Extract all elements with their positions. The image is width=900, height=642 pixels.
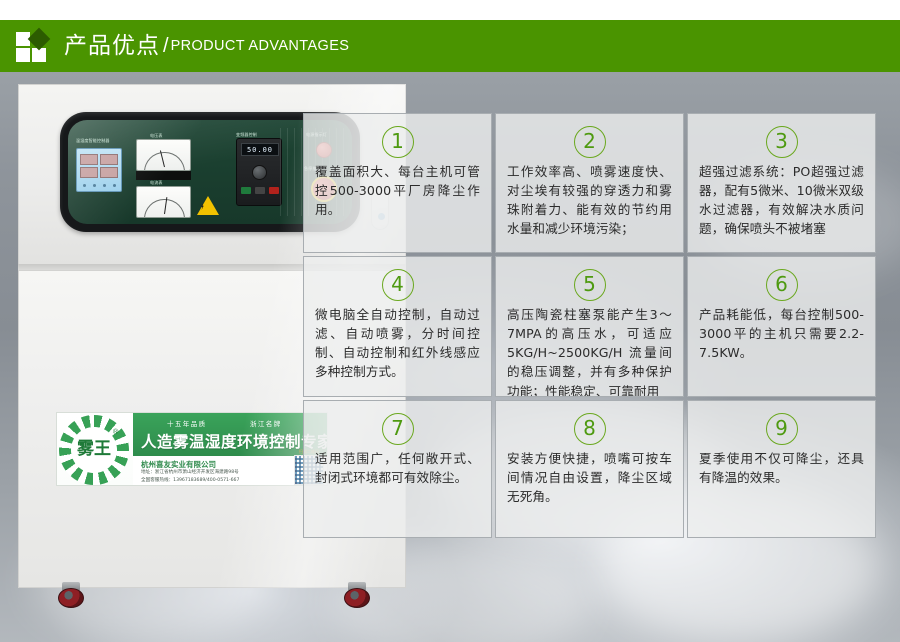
logo-square-bottom-left: [16, 48, 30, 62]
lcd-led-1: [83, 184, 86, 187]
advantage-text-8: 安装方便快捷，喷嘴可按车间情况自由设置，降尘区域无死角。: [507, 449, 672, 506]
advantage-card-1: 1 覆盖面积大、每台主机可管控500-3000平厂房降尘作用。: [303, 113, 492, 253]
advantage-text-2: 工作效率高、喷雾速度快、对尘埃有较强的穿透力和雾珠附着力、能有效的节约用水量和减…: [507, 162, 672, 239]
logo-diamond-icon: [28, 28, 51, 51]
inverter-module[interactable]: 50.00: [236, 138, 282, 206]
sticker-tag-quality: 十五年品质: [167, 418, 207, 428]
lcd-cell-2: [100, 154, 118, 165]
high-voltage-warning-icon: [197, 196, 219, 215]
title-separator: /: [163, 35, 169, 58]
advantage-text-3: 超强过滤系统：PO超强过滤器，配有5微米、10微米双级水过滤器，有效解决水质问题…: [699, 162, 864, 239]
four-squares-diamond-logo-icon: [16, 30, 50, 62]
advantage-text-7: 适用范围广，任何敞开式、封闭式环境都可有效除尘。: [315, 449, 480, 487]
advantage-card-3: 3 超强过滤系统：PO超强过滤器，配有5微米、10微米双级水过滤器，有效解决水质…: [687, 113, 876, 253]
advantage-text-6: 产品耗能低，每台控制500-3000平的主机只需要2.2-7.5KW。: [699, 305, 864, 362]
voltage-gauge: [136, 139, 191, 171]
advantage-text-4: 微电脑全自动控制，自动过滤、自动喷雾，分时间控制、自动控制和红外线感应多种控制方…: [315, 305, 480, 382]
advantage-number-9: 9: [766, 413, 798, 445]
inverter-stop-button[interactable]: [255, 187, 265, 194]
inverter-run-button[interactable]: [241, 187, 251, 194]
lcd-led-2: [93, 184, 96, 187]
inverter-knob[interactable]: [252, 165, 267, 180]
advantage-number-7: 7: [382, 413, 414, 445]
advantage-number-4: 4: [382, 269, 414, 301]
caster-wheel-right: [344, 582, 370, 608]
inverter-display: 50.00: [241, 143, 279, 156]
sticker-hotline: 全国客服热线：13967183689/400-0571-667: [141, 477, 239, 483]
lcd-cell-1: [80, 154, 98, 165]
sticker-address: 地址：浙江省杭州市萧山经济开发区海建路98号: [141, 469, 239, 475]
lcd-cell-4: [100, 167, 118, 178]
advantage-card-5: 5 高压陶瓷柱塞泵能产生3～7MPA的高压水，可适应5KG/H~2500KG/H…: [495, 256, 684, 397]
page-root: 产品优点 / PRODUCT ADVANTAGES 温湿度智能控制器: [0, 0, 900, 642]
section-header-bar: 产品优点 / PRODUCT ADVANTAGES: [0, 20, 900, 72]
controller-label: 温湿度智能控制器: [76, 138, 110, 144]
caster-wheel-left: [58, 582, 84, 608]
advantage-card-7: 7 适用范围广，任何敞开式、封闭式环境都可有效除尘。: [303, 400, 492, 538]
advantage-card-6: 6 产品耗能低，每台控制500-3000平的主机只需要2.2-7.5KW。: [687, 256, 876, 397]
advantage-card-8: 8 安装方便快捷，喷嘴可按车间情况自由设置，降尘区域无死角。: [495, 400, 684, 538]
registered-trademark-icon: ®: [113, 429, 118, 436]
advantage-number-8: 8: [574, 413, 606, 445]
current-gauge: [136, 186, 191, 218]
brand-name: 雾王: [71, 435, 117, 463]
caster-wheel-disc-right: [344, 588, 370, 608]
temperature-humidity-controller[interactable]: [76, 148, 122, 192]
top-white-strip: [0, 0, 900, 20]
advantage-number-6: 6: [766, 269, 798, 301]
lcd-cell-3: [80, 167, 98, 178]
page-title-en: PRODUCT ADVANTAGES: [171, 38, 350, 54]
advantage-number-3: 3: [766, 126, 798, 158]
page-title-cn: 产品优点: [64, 35, 160, 58]
inverter-reset-button[interactable]: [269, 187, 279, 194]
advantage-card-9: 9 夏季使用不仅可降尘，还具有降温的效果。: [687, 400, 876, 538]
advantage-number-2: 2: [574, 126, 606, 158]
gauge-arc-top: [144, 152, 185, 171]
sticker-tag-award: 浙江名牌: [250, 418, 282, 428]
advantage-text-9: 夏季使用不仅可降尘，还具有降温的效果。: [699, 449, 864, 487]
advantage-card-2: 2 工作效率高、喷雾速度快、对尘埃有较强的穿透力和雾珠附着力、能有效的节约用水量…: [495, 113, 684, 253]
lcd-led-3: [103, 184, 106, 187]
advantage-card-4: 4 微电脑全自动控制，自动过滤、自动喷雾，分时间控制、自动控制和红外线感应多种控…: [303, 256, 492, 397]
brand-sticker: 雾王 ® 十五年品质 浙江名牌 人造雾温湿度环境控制专家 杭州喜友实业有限公司 …: [56, 412, 328, 486]
advantage-number-1: 1: [382, 126, 414, 158]
advantage-text-1: 覆盖面积大、每台主机可管控500-3000平厂房降尘作用。: [315, 162, 480, 219]
advantage-text-5: 高压陶瓷柱塞泵能产生3～7MPA的高压水，可适应5KG/H~2500KG/H 流…: [507, 305, 672, 397]
gauge-shadow-top: [136, 171, 191, 180]
advantages-grid: 1 覆盖面积大、每台主机可管控500-3000平厂房降尘作用。 2 工作效率高、…: [303, 113, 894, 538]
caster-wheel-disc-left: [58, 588, 84, 608]
advantage-number-5: 5: [574, 269, 606, 301]
lcd-led-4: [113, 184, 116, 187]
